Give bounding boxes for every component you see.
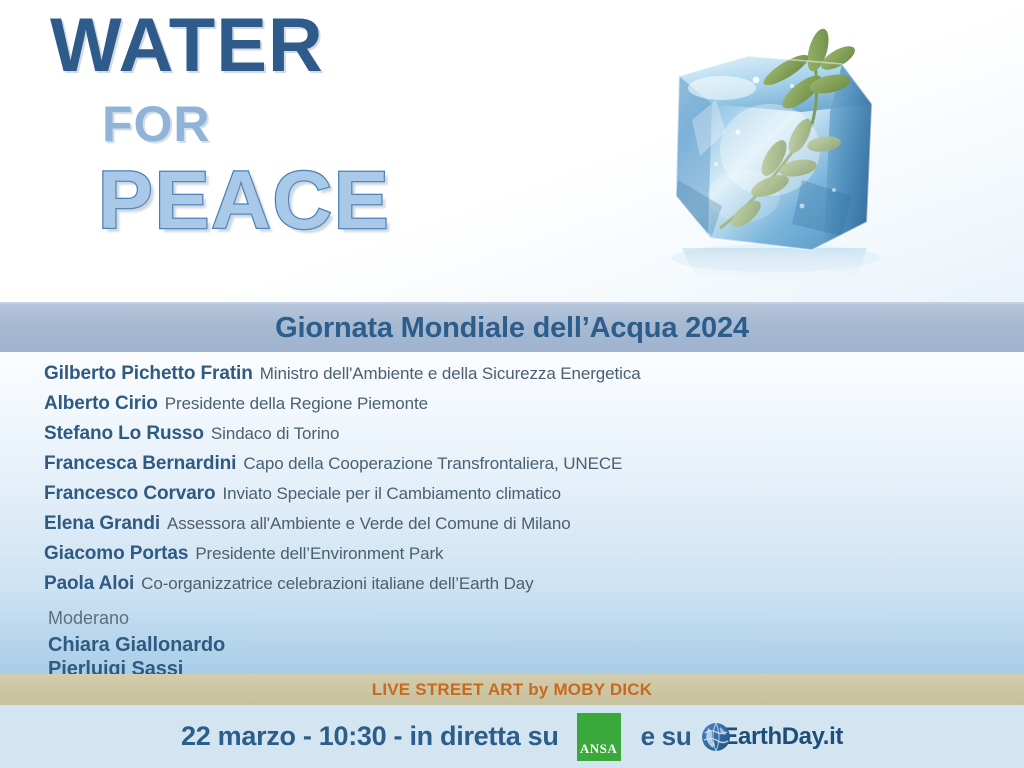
speaker-row: Francesca BernardiniCapo della Cooperazi…	[44, 454, 1024, 473]
speakers-section: Gilberto Pichetto FratinMinistro dell'Am…	[0, 352, 1024, 674]
headline-water: WATER	[50, 10, 391, 83]
footer-section: 22 marzo - 10:30 - in diretta su ANSA e …	[0, 705, 1024, 768]
speaker-name: Alberto Cirio	[44, 393, 158, 414]
speaker-role: Co-organizzatrice celebrazioni italiane …	[141, 574, 533, 593]
headline-for: FOR	[102, 99, 391, 150]
speaker-row: Elena GrandiAssessora all'Ambiente e Ver…	[44, 514, 1024, 533]
speaker-row: Alberto CirioPresidente della Regione Pi…	[44, 394, 1024, 413]
speaker-row: Giacomo PortasPresidente dell’Environmen…	[44, 544, 1024, 563]
event-title: Giornata Mondiale dell’Acqua 2024	[275, 312, 749, 345]
speaker-role: Presidente della Regione Piemonte	[165, 394, 428, 413]
speaker-name: Gilberto Pichetto Fratin	[44, 363, 253, 384]
speaker-row: Paola AloiCo-organizzatrice celebrazioni…	[44, 574, 1024, 593]
globe-icon	[701, 722, 731, 752]
speaker-role: Ministro dell'Ambiente e della Sicurezza…	[260, 364, 641, 383]
speaker-name: Francesca Bernardini	[44, 453, 236, 474]
speaker-name: Francesco Corvaro	[44, 483, 215, 504]
speaker-row: Francesco CorvaroInviato Speciale per il…	[44, 484, 1024, 503]
ansa-logo: ANSA	[577, 713, 621, 761]
speaker-role: Assessora all'Ambiente e Verde del Comun…	[167, 514, 571, 533]
broadcast-date-time: 22 marzo - 10:30 - in diretta su	[181, 721, 559, 752]
speaker-role: Sindaco di Torino	[211, 424, 339, 443]
speaker-row: Gilberto Pichetto FratinMinistro dell'Am…	[44, 364, 1024, 383]
earthday-logo-text: EarthDay.it	[722, 723, 843, 751]
speaker-row: Stefano Lo RussoSindaco di Torino	[44, 424, 1024, 443]
speaker-role: Inviato Speciale per il Cambiamento clim…	[222, 484, 561, 503]
street-art-text: LIVE STREET ART by MOBY DICK	[372, 680, 652, 700]
speaker-name: Stefano Lo Russo	[44, 423, 204, 444]
speaker-name: Giacomo Portas	[44, 543, 188, 564]
street-art-band: LIVE STREET ART by MOBY DICK	[0, 674, 1024, 705]
speaker-name: Paola Aloi	[44, 573, 134, 594]
speaker-role: Presidente dell’Environment Park	[195, 544, 443, 563]
moderator-name: Chiara Giallonardo	[48, 633, 1024, 657]
ansa-logo-label: ANSA	[580, 741, 617, 757]
poster-root: WATER FOR PEACE	[0, 0, 1024, 768]
headline-peace: PEACE	[98, 160, 391, 242]
moderators-label: Moderano	[48, 609, 1024, 627]
speaker-name: Elena Grandi	[44, 513, 160, 534]
speaker-role: Capo della Cooperazione Transfrontaliera…	[243, 454, 622, 473]
headline-block: WATER FOR PEACE	[50, 10, 391, 242]
footer-connector: e su	[641, 721, 692, 752]
hero-section: WATER FOR PEACE	[0, 0, 1024, 302]
earthday-logo: EarthDay.it	[701, 722, 843, 752]
ice-cube-artwork	[652, 0, 982, 302]
event-title-band: Giornata Mondiale dell’Acqua 2024	[0, 302, 1024, 352]
